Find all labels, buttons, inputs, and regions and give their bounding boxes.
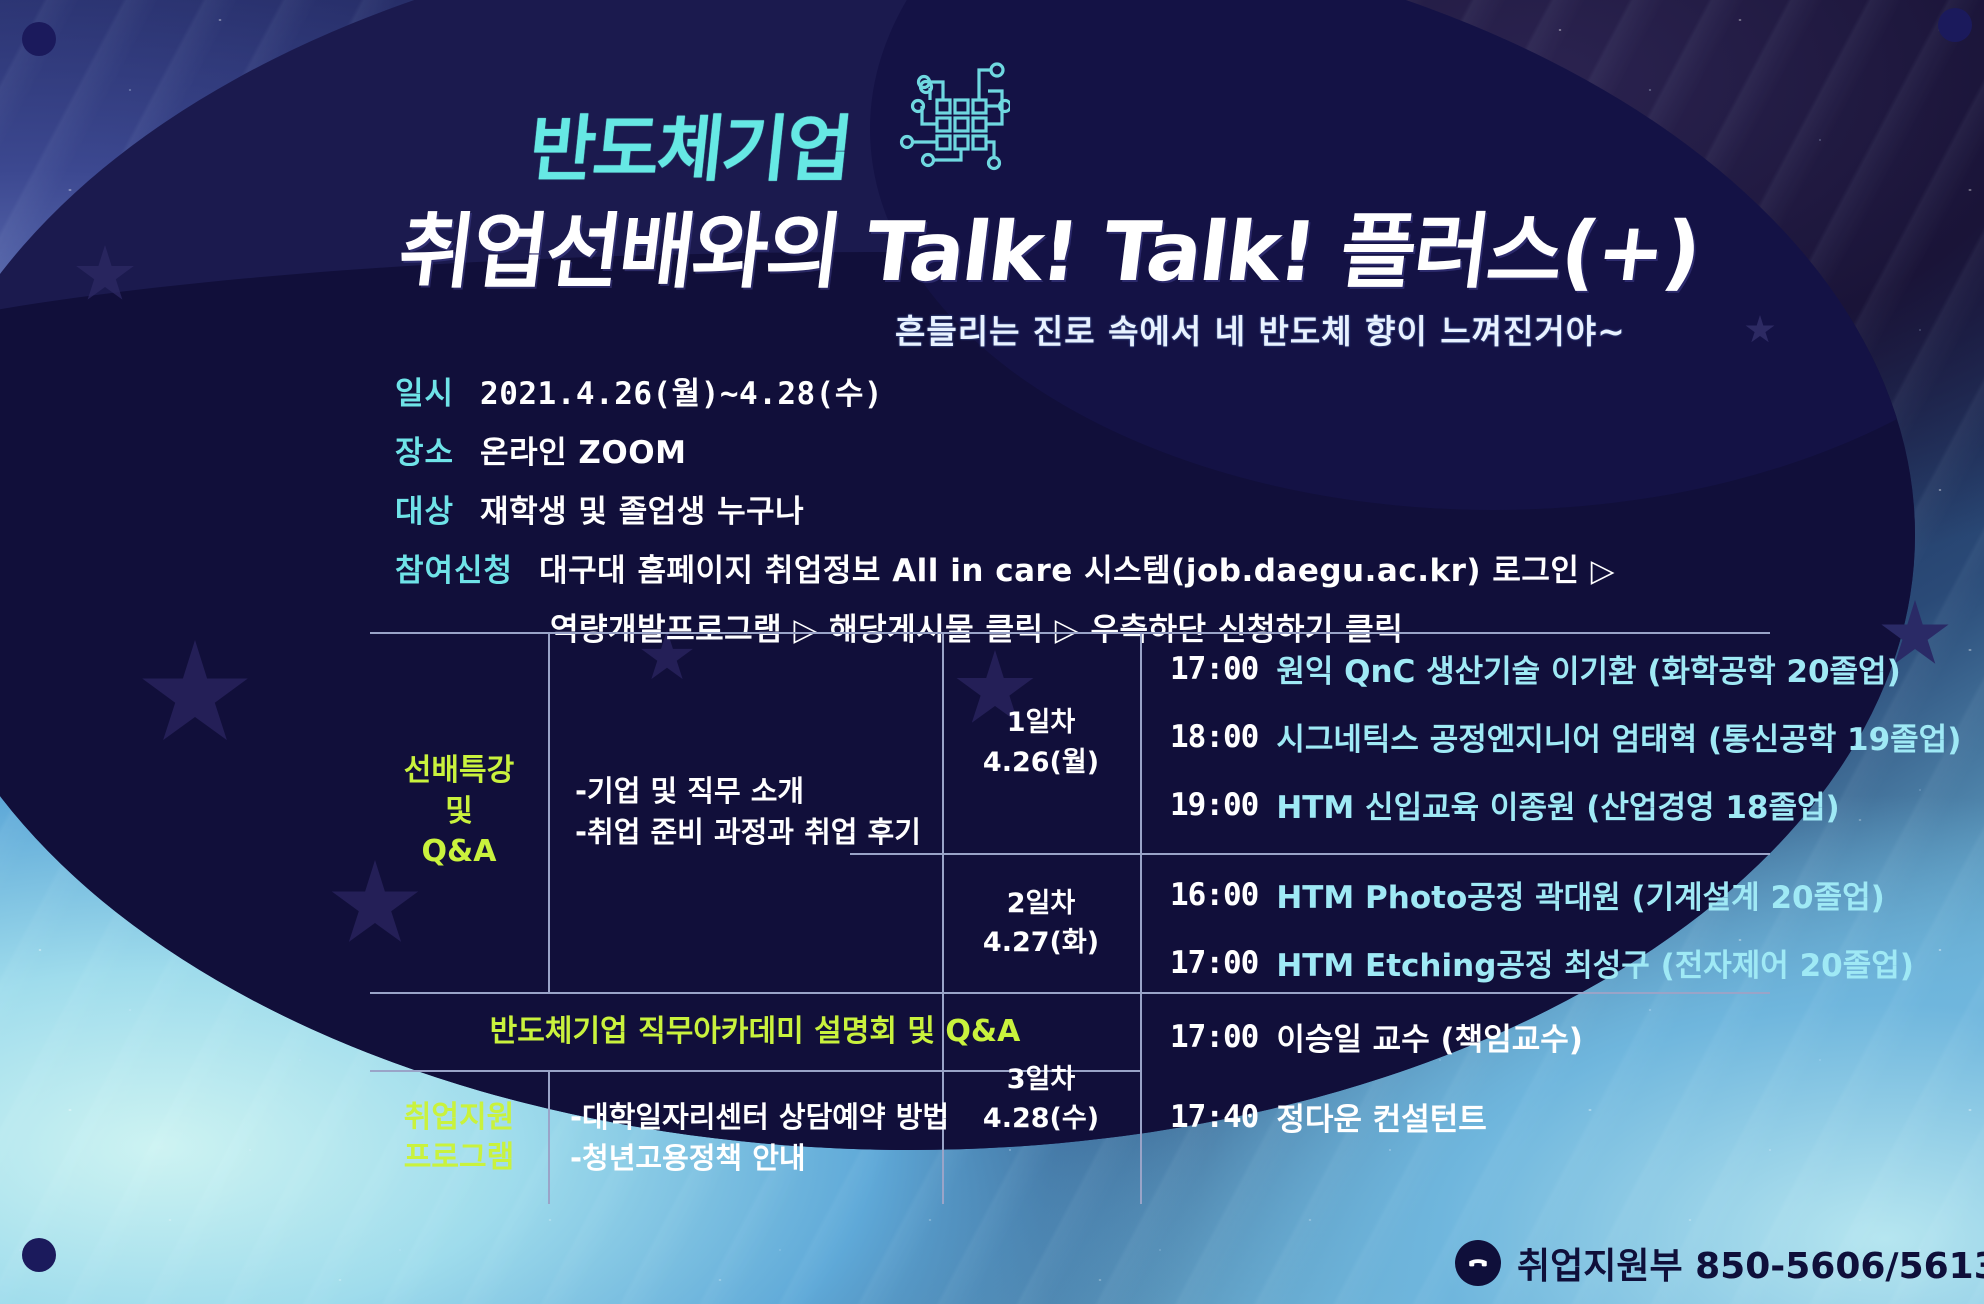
event-poster: 반도체기업 취업선배와의 Talk! Talk! 플러스(+) 흔들리는 진로 … bbox=[0, 0, 1984, 1304]
info-value: 재학생 및 졸업생 누구나 bbox=[480, 486, 804, 531]
session-time: 17:00 bbox=[1170, 945, 1258, 981]
session-row: 19:00 HTM 신입교육 이종원 (산업경영 18졸업) bbox=[1170, 782, 1840, 827]
page-tagline: 흔들리는 진로 속에서 네 반도체 향이 느껴진거야~ bbox=[895, 305, 1626, 353]
phone-icon bbox=[1455, 1240, 1501, 1286]
category-title-line: 반도체기업 직무아카데미 설명회 및 Q&A bbox=[490, 1012, 1021, 1053]
category-desc-support: -대학일자리센터 상담예약 방법 -청년고용정책 안내 bbox=[570, 1072, 950, 1204]
category-cell-support: 취업지원 프로그램 bbox=[370, 1072, 548, 1204]
info-row-datetime: 일시 2021.4.26(월)~4.28(수) bbox=[395, 368, 1615, 413]
day-number: 1일차 bbox=[942, 703, 1140, 742]
category-desc-lecture: -기업 및 직무 소개 -취업 준비 과정과 취업 후기 bbox=[575, 632, 935, 992]
session-row: 18:00 시그네틱스 공정엔지니어 엄태혁 (통신공학 19졸업) bbox=[1170, 714, 1961, 759]
info-value: 온라인 ZOOM bbox=[480, 427, 686, 472]
session-text: 이승일 교수 (책임교수) bbox=[1276, 1014, 1583, 1059]
circuit-chip-icon bbox=[890, 48, 1010, 178]
session-text: HTM 신입교육 이종원 (산업경영 18졸업) bbox=[1276, 782, 1839, 827]
session-row: 16:00 HTM Photo공정 곽대원 (기계설계 20졸업) bbox=[1170, 872, 1885, 917]
session-time: 19:00 bbox=[1170, 787, 1258, 823]
corner-dot bbox=[22, 22, 56, 56]
category-cell-lecture: 선배특강 및 Q&A bbox=[370, 632, 548, 992]
table-divider bbox=[548, 634, 550, 992]
session-text: HTM Photo공정 곽대원 (기계설계 20졸업) bbox=[1276, 872, 1885, 917]
category-title-line: 및 bbox=[370, 792, 548, 833]
info-label: 대상 bbox=[395, 486, 454, 531]
info-row-apply: 참여신청 대구대 홈페이지 취업정보 All in care 시스템(job.d… bbox=[395, 545, 1615, 590]
session-text: 시그네틱스 공정엔지니어 엄태혁 (통신공학 19졸업) bbox=[1276, 714, 1961, 759]
table-divider bbox=[548, 1072, 550, 1204]
day-cell-3: 3일차 4.28(수) bbox=[942, 994, 1140, 1204]
day-date: 4.27(화) bbox=[942, 923, 1140, 962]
category-desc-line: -기업 및 직무 소개 bbox=[575, 771, 935, 812]
day-date: 4.26(월) bbox=[942, 743, 1140, 782]
page-title-main: 취업선배와의 Talk! Talk! 플러스(+) bbox=[393, 185, 1707, 304]
category-title-line: Q&A bbox=[370, 832, 548, 873]
corner-dot bbox=[1938, 8, 1972, 42]
session-text: 정다운 컨설턴트 bbox=[1276, 1094, 1486, 1139]
session-row: 17:00 HTM Etching공정 최성구 (전자제어 20졸업) bbox=[1170, 940, 1914, 985]
session-row: 17:00 원익 QnC 생산기술 이기환 (화학공학 20졸업) bbox=[1170, 646, 1901, 691]
category-title-line: 선배특강 bbox=[370, 751, 548, 792]
session-time: 17:00 bbox=[1170, 651, 1258, 687]
day-number: 2일차 bbox=[942, 884, 1140, 923]
info-row-audience: 대상 재학생 및 졸업생 누구나 bbox=[395, 486, 1615, 531]
day-cell-2: 2일차 4.27(화) bbox=[942, 854, 1140, 992]
session-time: 16:00 bbox=[1170, 877, 1258, 913]
category-title-line: 프로그램 bbox=[370, 1138, 548, 1179]
category-title-line: 취업지원 bbox=[370, 1098, 548, 1139]
footer-contact: 취업지원부 850-5606/5613 bbox=[1455, 1237, 1984, 1289]
corner-dot bbox=[22, 1238, 56, 1272]
info-value: 2021.4.26(월)~4.28(수) bbox=[480, 368, 883, 413]
session-row: 17:40 정다운 컨설턴트 bbox=[1170, 1094, 1487, 1139]
session-text: HTM Etching공정 최성구 (전자제어 20졸업) bbox=[1276, 940, 1914, 985]
info-label: 참여신청 bbox=[395, 545, 513, 590]
session-time: 17:40 bbox=[1170, 1099, 1258, 1135]
schedule-table: 선배특강 및 Q&A -기업 및 직무 소개 -취업 준비 과정과 취업 후기 … bbox=[370, 632, 1770, 1152]
session-time: 17:00 bbox=[1170, 1019, 1258, 1055]
session-text: 원익 QnC 생산기술 이기환 (화학공학 20졸업) bbox=[1276, 646, 1900, 691]
info-label: 장소 bbox=[395, 427, 454, 472]
session-row: 17:00 이승일 교수 (책임교수) bbox=[1170, 1014, 1583, 1059]
footer-contact-text: 취업지원부 850-5606/5613 bbox=[1517, 1237, 1984, 1289]
event-info-block: 일시 2021.4.26(월)~4.28(수) 장소 온라인 ZOOM 대상 재… bbox=[395, 368, 1615, 649]
session-time: 18:00 bbox=[1170, 719, 1258, 755]
category-desc-line: -대학일자리센터 상담예약 방법 bbox=[570, 1097, 950, 1138]
day-number: 3일차 bbox=[942, 1060, 1140, 1099]
category-desc-line: -청년고용정책 안내 bbox=[570, 1138, 950, 1179]
category-desc-line: -취업 준비 과정과 취업 후기 bbox=[575, 812, 935, 853]
info-row-location: 장소 온라인 ZOOM bbox=[395, 427, 1615, 472]
day-date: 4.28(수) bbox=[942, 1099, 1140, 1138]
info-label: 일시 bbox=[395, 368, 454, 413]
day-cell-1: 1일차 4.26(월) bbox=[942, 632, 1140, 853]
page-title-top: 반도체기업 bbox=[524, 90, 856, 195]
info-value: 대구대 홈페이지 취업정보 All in care 시스템(job.daegu.… bbox=[539, 545, 1615, 590]
table-divider bbox=[1140, 634, 1142, 1204]
